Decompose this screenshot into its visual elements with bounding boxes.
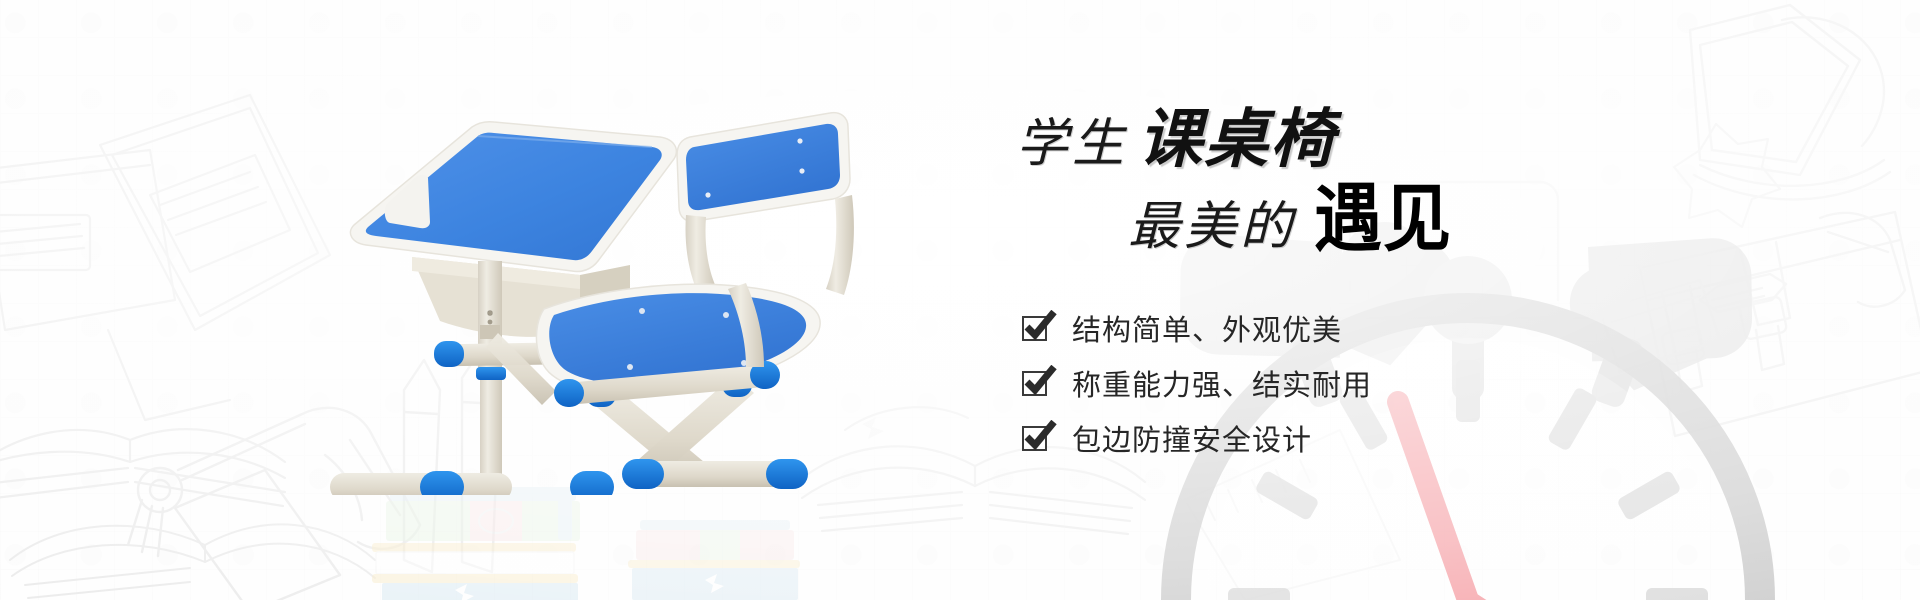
background-line-art xyxy=(0,0,1920,600)
open-book-outline-center-left xyxy=(10,524,375,598)
headline-line-1-emphasis: 课桌椅 xyxy=(1138,104,1336,175)
feature-label: 包边防撞安全设计 xyxy=(1072,417,1312,459)
book-stack-pastel xyxy=(372,487,580,600)
backpack-outline-top-right xyxy=(1690,5,1890,199)
headline-line-2: 最美的遇见 xyxy=(1128,182,1630,256)
satchel-bag-outline-right xyxy=(1640,212,1920,436)
feature-item: 称重能力强、结实耐用 xyxy=(1022,355,1582,410)
open-book-outline-left xyxy=(0,429,285,506)
star-sticker-outline xyxy=(1674,124,1780,227)
background-texture xyxy=(0,0,1920,600)
feature-label: 结构简单、外观优美 xyxy=(1072,307,1342,349)
headline-line-1: 学生课桌椅 xyxy=(1016,108,1630,172)
alarm-clock-illustration xyxy=(0,0,1920,600)
book-stack-pastel-right xyxy=(628,520,800,600)
background-vignette xyxy=(0,0,1920,600)
product-image-desk-and-chair xyxy=(330,75,950,495)
promo-banner: 学生课桌椅 最美的遇见 结构简单、外观优美 称重能力强、结实耐用 xyxy=(0,0,1920,600)
headline-line-1-prefix: 学生 xyxy=(1016,116,1128,173)
stapler-outline xyxy=(1600,280,1720,372)
checkbox-checked-icon xyxy=(1022,313,1052,343)
notebook-outline-top-left xyxy=(0,95,330,420)
checkbox-checked-icon xyxy=(1022,423,1052,453)
headline-line-2-emphasis: 遇见 xyxy=(1314,182,1452,256)
feature-item: 结构简单、外观优美 xyxy=(1022,300,1582,355)
feature-item: 包边防撞安全设计 xyxy=(1022,410,1582,465)
headline-line-2-prefix: 最美的 xyxy=(1128,199,1296,256)
checkbox-checked-icon xyxy=(1022,368,1052,398)
feature-list: 结构简单、外观优美 称重能力强、结实耐用 包边防撞安全设计 xyxy=(1022,300,1582,465)
feature-label: 称重能力强、结实耐用 xyxy=(1072,362,1372,404)
headline: 学生课桌椅 最美的遇见 xyxy=(1010,108,1630,256)
